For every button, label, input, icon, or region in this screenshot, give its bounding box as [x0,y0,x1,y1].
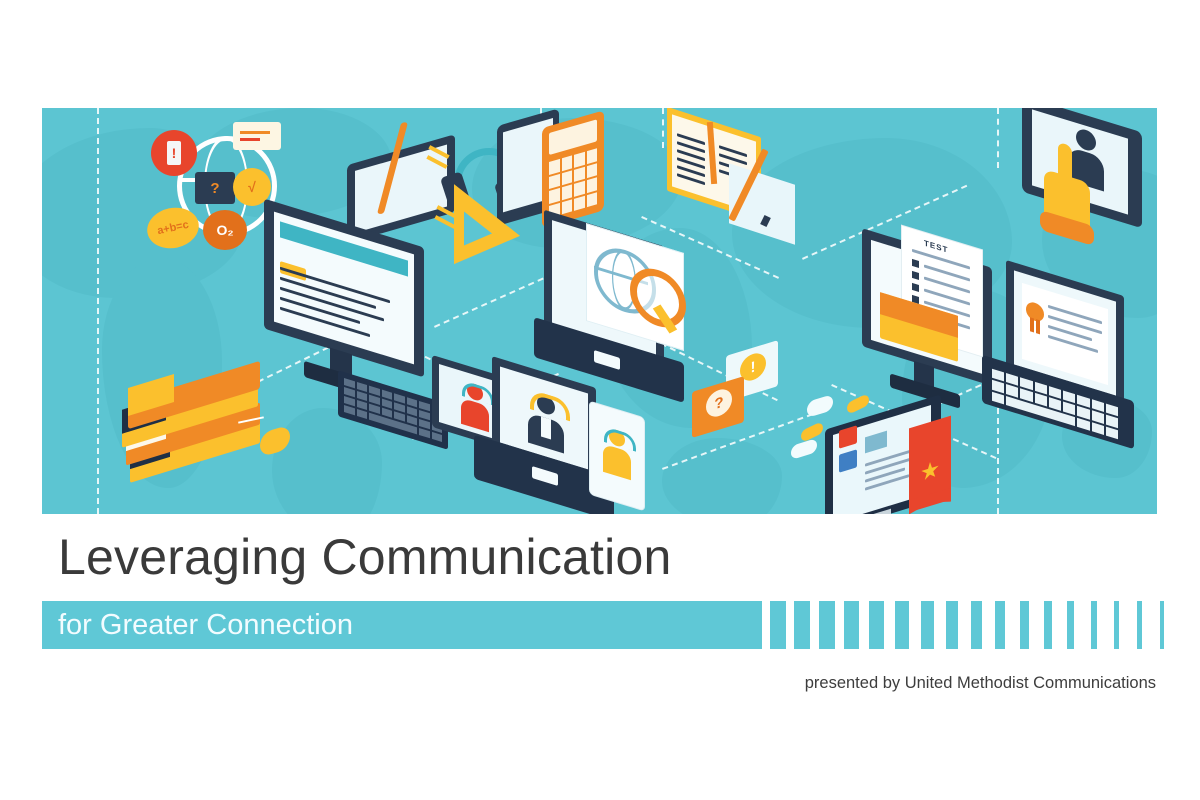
slide-canvas: ! ? √ a+b=c O₂ [0,0,1200,800]
decor-bar [1114,601,1119,649]
decorative-bars [770,601,1160,649]
icon-video-call-screens [432,358,652,514]
avatar-headset-1 [460,379,490,432]
page-subtitle: for Greater Connection [58,609,353,642]
decor-bar [1067,601,1074,649]
icon-chat-bubbles: ! ? [692,348,782,438]
decor-bar [971,601,982,649]
subtitle-band: for Greater Connection [42,601,762,649]
badge-question: ? [195,172,235,204]
decor-bar [844,601,859,649]
decor-bar [794,601,810,649]
icon-books-mouse [100,383,320,513]
decor-bar [921,601,934,649]
decor-bar [1020,601,1029,649]
decor-bar [895,601,909,649]
icon-open-book-pencil [667,116,827,246]
avatar-headset-3 [602,425,632,480]
decor-bar [1137,601,1142,649]
hero-banner-image: ! ? √ a+b=c O₂ [42,108,1157,514]
icon-monitor-bookmark [797,398,977,514]
decor-bar [946,601,958,649]
presented-by-credit: presented by United Methodist Communicat… [805,674,1156,693]
decor-bar [1044,601,1052,649]
decor-bar [995,601,1005,649]
decor-bar [770,601,786,649]
decor-bar [1160,601,1164,649]
icon-laptop-certificate [982,278,1157,458]
badge-o2: O₂ [203,210,247,250]
pointing-hand [1036,148,1092,238]
icon-tablet-hand-touch [1022,114,1157,284]
badge-exclamation: ! [151,130,197,176]
avatar-headset-2 [528,388,564,453]
certificate-seal [1026,300,1044,324]
decor-bar [819,601,835,649]
page-title: Leveraging Communication [58,528,671,586]
mouse-icon [260,424,290,457]
decor-bar [869,601,884,649]
icon-chat-bubble-small [233,122,281,150]
decor-bar [1091,601,1097,649]
test-document-heading: TEST [924,238,948,254]
